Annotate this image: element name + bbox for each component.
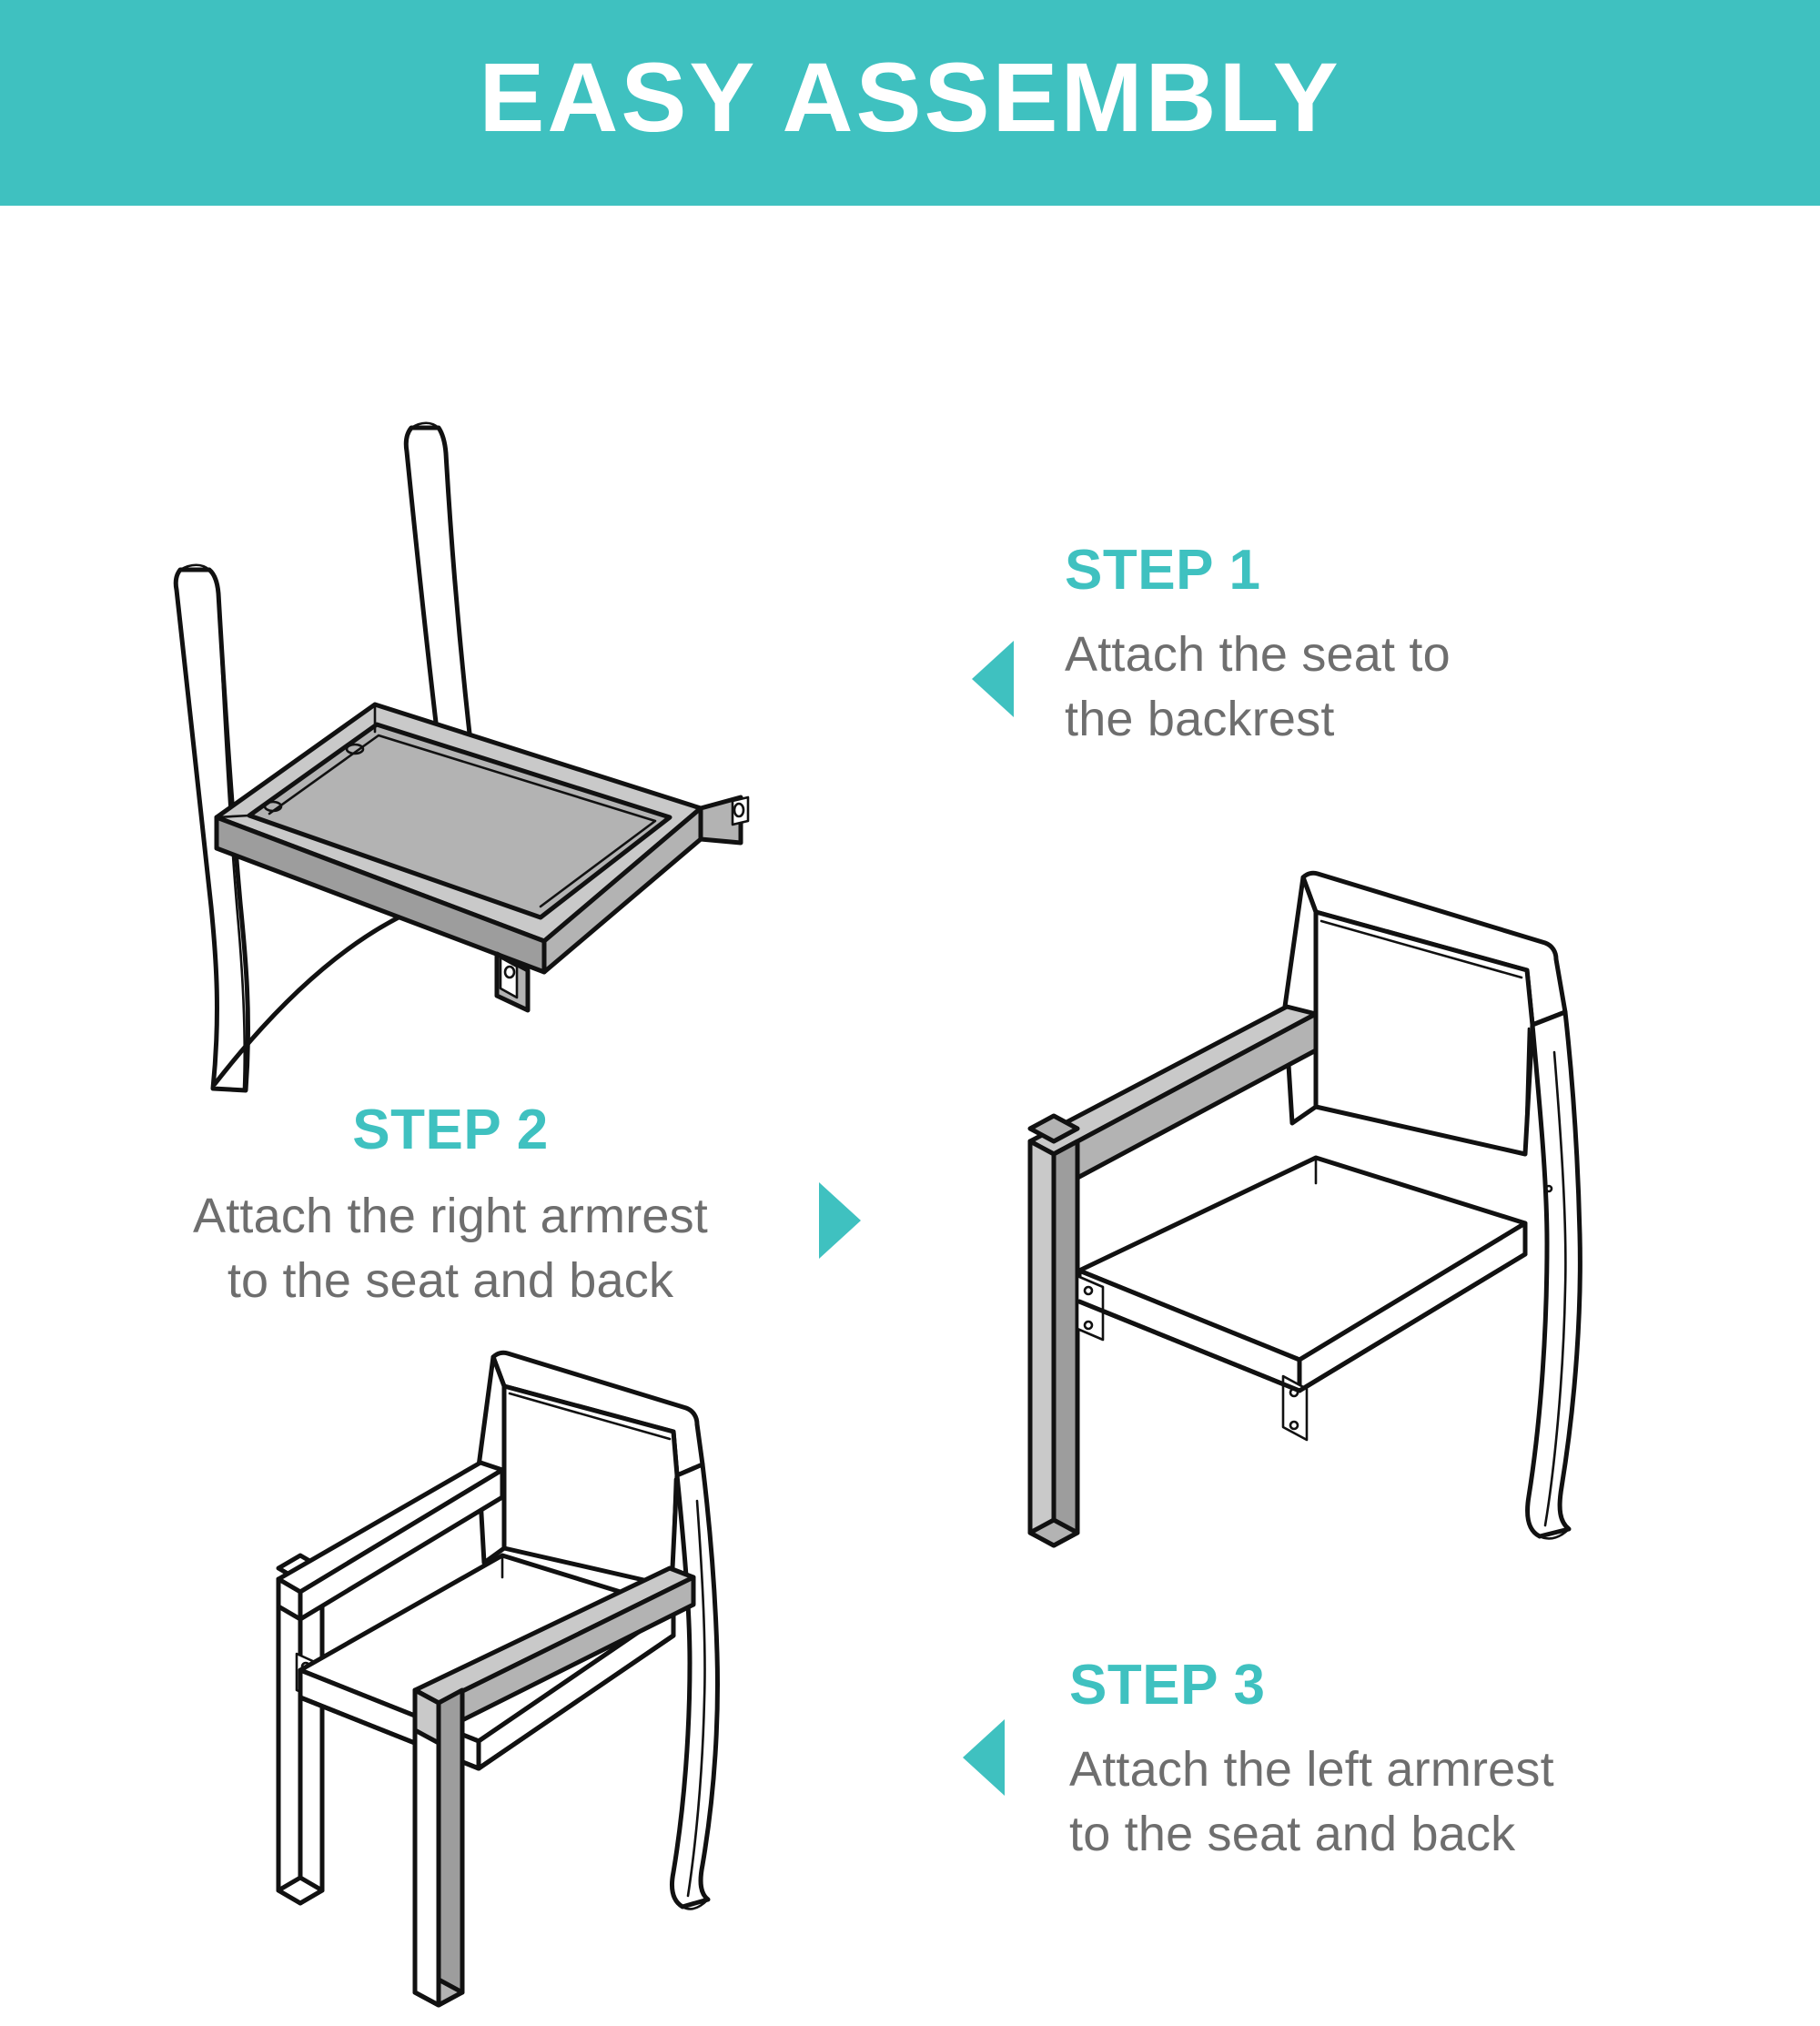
step-1-text-block: STEP 1 Attach the seat to the backrest bbox=[1065, 542, 1451, 753]
step-2-text-block: STEP 2 Attach the right armrest to the s… bbox=[118, 1102, 783, 1314]
front-leg-hidden-edge-3 bbox=[415, 1730, 439, 2005]
step-1-heading: STEP 1 bbox=[1065, 542, 1451, 599]
illustration-step-2-right-armrest bbox=[983, 834, 1738, 1562]
right-armrest-leg-front-face bbox=[1030, 1141, 1054, 1545]
triangle-left-icon-step-3 bbox=[963, 1719, 1005, 1796]
step-3-heading: STEP 3 bbox=[1069, 1657, 1554, 1714]
right-armrest-leg-side-face bbox=[1054, 1141, 1077, 1545]
header-banner: EASY ASSEMBLY bbox=[0, 0, 1820, 206]
chair-seat-frame-svg bbox=[136, 415, 773, 1107]
step-3-description-line-2: to the seat and back bbox=[1069, 1802, 1554, 1867]
step-3-description-line-1: Attach the left armrest bbox=[1069, 1737, 1554, 1802]
page-title: EASY ASSEMBLY bbox=[479, 48, 1340, 147]
step-2-description-line-1: Attach the right armrest bbox=[118, 1184, 783, 1249]
step-2-description-line-2: to the seat and back bbox=[118, 1249, 783, 1313]
backrest-left-edge-3 bbox=[479, 1357, 504, 1563]
step-3-text-block: STEP 3 Attach the left armrest to the se… bbox=[1069, 1657, 1554, 1868]
chair-left-armrest-svg bbox=[237, 1330, 892, 2021]
step-1-description-line-1: Attach the seat to bbox=[1065, 623, 1451, 687]
rear-left-leg-front-3 bbox=[278, 1579, 300, 1903]
assembly-diagram-board: STEP 1 Attach the seat to the backrest S… bbox=[0, 206, 1820, 1820]
rear-left-leg-side-3 bbox=[300, 1579, 322, 1903]
step-1-description-line-2: the backrest bbox=[1065, 687, 1451, 752]
illustration-step-1-seat-and-backrest bbox=[136, 415, 773, 1107]
triangle-right-icon-step-2 bbox=[819, 1182, 861, 1259]
backrest-left-edge bbox=[1285, 877, 1316, 1123]
illustration-step-3-left-armrest bbox=[237, 1330, 892, 2021]
step-2-heading: STEP 2 bbox=[118, 1102, 783, 1159]
right-armrest-side-face bbox=[1054, 1014, 1316, 1190]
triangle-left-icon-step-1 bbox=[972, 641, 1014, 717]
chair-right-armrest-svg bbox=[983, 834, 1738, 1562]
left-armrest-leg-side-face-3 bbox=[439, 1690, 462, 2005]
